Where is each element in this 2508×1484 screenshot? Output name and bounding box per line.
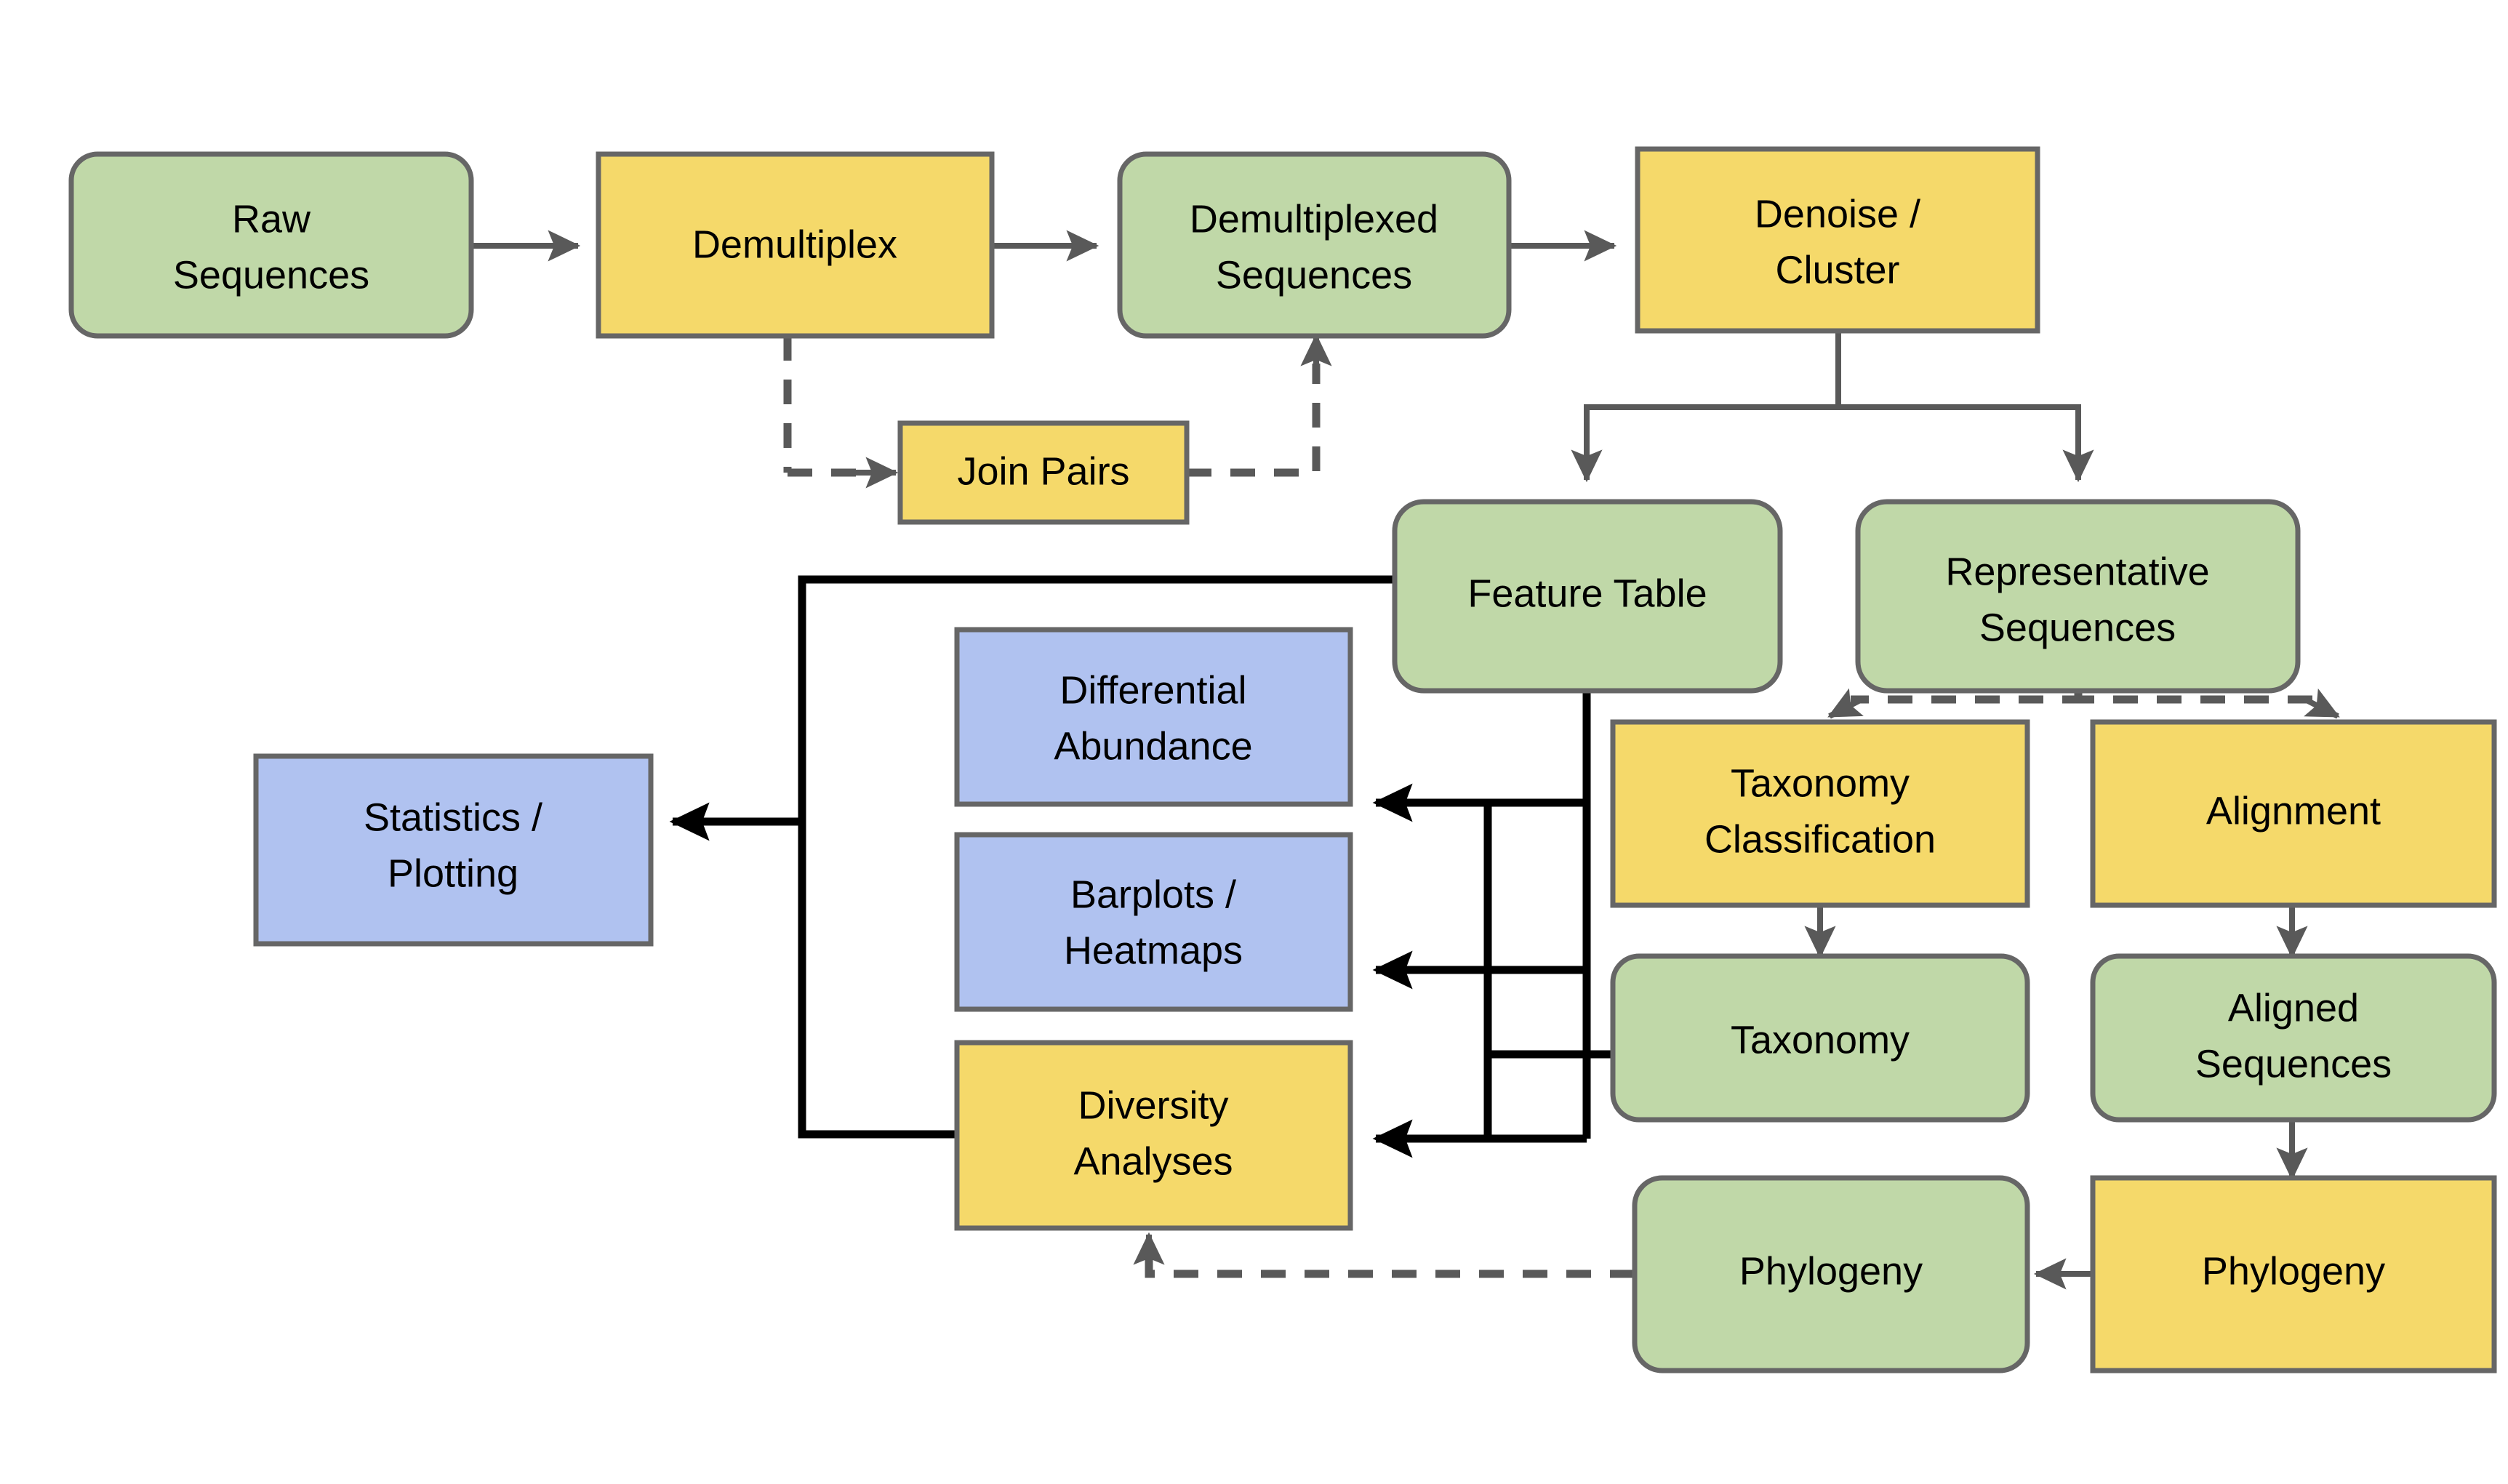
node-alignment-label-line1: Alignment xyxy=(2206,789,2381,833)
node-demultiplexed-sequences-label-line1: Demultiplexed xyxy=(1190,197,1438,241)
node-barplots-heatmaps-label-line1: Barplots / xyxy=(1070,873,1236,916)
node-demultiplex-label-line1: Demultiplex xyxy=(692,222,897,266)
node-representative-sequences[interactable]: Representative Sequences xyxy=(1858,502,2298,691)
node-denoise-cluster-label-line1: Denoise / xyxy=(1755,192,1920,236)
node-statistics-plotting-shape[interactable] xyxy=(256,756,651,944)
node-aligned-sequences-shape[interactable] xyxy=(2093,956,2494,1120)
node-statistics-plotting[interactable]: Statistics / Plotting xyxy=(256,756,651,944)
edge-repseqs-to-alignment xyxy=(2078,691,2338,716)
node-denoise-cluster-label-line2: Cluster xyxy=(1775,248,1899,292)
node-denoise-cluster-shape[interactable] xyxy=(1638,149,2038,331)
node-phylogeny-process-label-line1: Phylogeny xyxy=(2202,1249,2385,1293)
node-raw-sequences[interactable]: Raw Sequences xyxy=(71,154,471,336)
node-taxonomy[interactable]: Taxonomy xyxy=(1613,956,2027,1120)
node-phylogeny-data-label-line1: Phylogeny xyxy=(1739,1249,1923,1293)
node-differential-abundance-label-line1: Differential xyxy=(1059,668,1246,712)
node-join-pairs-label-line1: Join Pairs xyxy=(957,449,1129,493)
node-statistics-plotting-label-line1: Statistics / xyxy=(364,795,542,839)
node-barplots-heatmaps[interactable]: Barplots / Heatmaps xyxy=(957,835,1350,1009)
node-representative-sequences-label-line2: Sequences xyxy=(1979,606,2176,649)
node-feature-table-label-line1: Feature Table xyxy=(1467,571,1707,615)
node-statistics-plotting-label-line2: Plotting xyxy=(388,851,518,895)
node-denoise-cluster[interactable]: Denoise / Cluster xyxy=(1638,149,2038,331)
node-taxonomy-classification-label-line2: Classification xyxy=(1704,817,1936,861)
node-demultiplex[interactable]: Demultiplex xyxy=(598,154,992,336)
node-aligned-sequences[interactable]: Aligned Sequences xyxy=(2093,956,2494,1120)
node-aligned-sequences-label-line2: Sequences xyxy=(2195,1042,2392,1086)
node-demultiplexed-sequences[interactable]: Demultiplexed Sequences xyxy=(1120,154,1509,336)
node-aligned-sequences-label-line1: Aligned xyxy=(2228,986,2359,1030)
node-phylogeny-data[interactable]: Phylogeny xyxy=(1635,1178,2027,1371)
edge-phylogeny-data-to-diversity xyxy=(1149,1235,1635,1274)
node-differential-abundance-label-line2: Abundance xyxy=(1054,724,1252,768)
node-barplots-heatmaps-label-line2: Heatmaps xyxy=(1064,928,1243,972)
node-phylogeny-process[interactable]: Phylogeny xyxy=(2093,1178,2494,1371)
edge-demultiplex-to-joinpairs xyxy=(788,336,896,473)
node-diversity-analyses[interactable]: Diversity Analyses xyxy=(957,1043,1350,1228)
diagram-canvas: Raw Sequences Demultiplex Demultiplexed … xyxy=(0,0,2508,1484)
node-differential-abundance[interactable]: Differential Abundance xyxy=(957,630,1350,804)
node-diversity-analyses-shape[interactable] xyxy=(957,1043,1350,1228)
workflow-diagram: Raw Sequences Demultiplex Demultiplexed … xyxy=(0,0,2508,1484)
node-taxonomy-classification-shape[interactable] xyxy=(1613,722,2027,905)
node-raw-sequences-label-line2: Sequences xyxy=(173,253,369,297)
node-taxonomy-label-line1: Taxonomy xyxy=(1731,1018,1910,1062)
node-taxonomy-classification[interactable]: Taxonomy Classification xyxy=(1613,722,2027,905)
edge-repseqs-to-taxclass xyxy=(1830,691,2078,716)
node-alignment[interactable]: Alignment xyxy=(2093,722,2494,905)
edge-joinpairs-to-demuxseqs xyxy=(1187,336,1316,473)
node-representative-sequences-shape[interactable] xyxy=(1858,502,2298,691)
edge-denoise-split-to-featuretable xyxy=(1587,333,1838,480)
node-taxonomy-classification-label-line1: Taxonomy xyxy=(1731,761,1910,805)
node-raw-sequences-shape[interactable] xyxy=(71,154,471,336)
edge-denoise-split-to-repseqs xyxy=(1838,333,2078,480)
node-demultiplexed-sequences-label-line2: Sequences xyxy=(1216,253,1412,297)
node-diversity-analyses-label-line2: Analyses xyxy=(1073,1139,1233,1183)
node-join-pairs[interactable]: Join Pairs xyxy=(900,423,1187,522)
node-representative-sequences-label-line1: Representative xyxy=(1945,550,2209,593)
node-diversity-analyses-label-line1: Diversity xyxy=(1078,1083,1228,1127)
node-feature-table[interactable]: Feature Table xyxy=(1395,502,1780,691)
node-barplots-heatmaps-shape[interactable] xyxy=(957,835,1350,1009)
node-differential-abundance-shape[interactable] xyxy=(957,630,1350,804)
node-demultiplexed-sequences-shape[interactable] xyxy=(1120,154,1509,336)
node-raw-sequences-label-line1: Raw xyxy=(232,197,311,241)
